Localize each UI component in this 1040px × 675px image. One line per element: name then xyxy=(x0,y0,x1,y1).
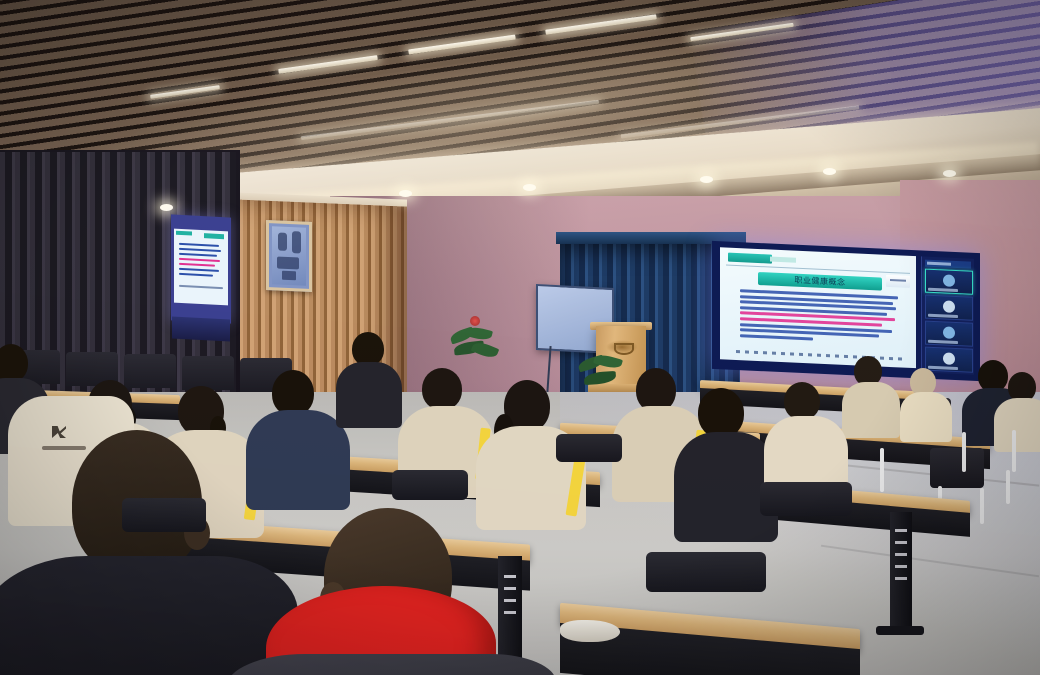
chair-leg xyxy=(962,432,966,472)
chair-back xyxy=(122,498,206,532)
slide-body-text xyxy=(740,289,898,347)
slide-title: 职业健康概念 xyxy=(758,272,882,291)
plant-leaf xyxy=(471,340,500,361)
recessed-downlight xyxy=(823,168,836,175)
bench-seat xyxy=(182,356,234,390)
vc-participant-name xyxy=(928,340,958,344)
chair-leg xyxy=(1006,470,1010,504)
side-slide-line xyxy=(179,248,221,252)
poster-figure xyxy=(278,233,287,251)
poster-object xyxy=(277,256,299,269)
side-slide-line-highlight xyxy=(179,263,215,267)
recessed-downlight xyxy=(399,190,412,197)
vc-participant-name xyxy=(928,288,958,292)
side-slide-tab xyxy=(176,231,192,236)
rear-bench-seating xyxy=(0,330,300,390)
chair-back xyxy=(392,470,468,500)
vc-participant-tile[interactable] xyxy=(925,347,973,373)
slide-accent-tab-secondary xyxy=(770,257,796,263)
chair-leg xyxy=(980,488,984,524)
side-slide-footer xyxy=(179,285,223,289)
plant-leaf xyxy=(465,325,493,342)
poster-artwork xyxy=(272,226,306,285)
chair-back xyxy=(646,552,766,592)
desk-leg xyxy=(498,556,522,666)
jacket-logo-text xyxy=(42,446,86,450)
slide-corner-logo xyxy=(886,275,910,288)
side-screen-slide xyxy=(174,229,228,306)
recessed-downlight xyxy=(943,170,956,177)
bench-seat xyxy=(124,354,176,388)
chair-leg xyxy=(880,448,884,492)
framed-safety-poster xyxy=(266,220,312,292)
plant-flower xyxy=(470,316,480,326)
main-projection-screen: 职业健康概念 xyxy=(712,241,980,381)
video-conference-participant-panel[interactable] xyxy=(921,256,974,374)
recessed-downlight xyxy=(700,176,713,183)
avatar xyxy=(943,352,955,365)
potted-plant xyxy=(448,316,506,368)
avatar xyxy=(943,300,955,313)
side-slide-line xyxy=(179,253,217,257)
poster-object xyxy=(282,271,296,281)
slide-accent-tab xyxy=(728,253,772,264)
plant-leaf xyxy=(584,371,617,385)
side-slide-line xyxy=(179,243,219,247)
chair-back xyxy=(556,434,622,462)
shoe xyxy=(560,620,620,642)
vc-participant-name xyxy=(928,366,958,370)
training-room-photo: 职业健康概念 xyxy=(0,0,1040,675)
vc-participant-name xyxy=(928,314,958,318)
chair xyxy=(930,448,984,488)
vc-participant-tile[interactable] xyxy=(925,295,973,321)
vc-participant-tile[interactable] xyxy=(925,269,973,295)
poster-figure xyxy=(292,231,301,253)
plant-leaf xyxy=(593,352,623,370)
avatar xyxy=(943,274,955,287)
side-slide-title xyxy=(204,233,224,239)
vc-panel-header xyxy=(925,260,971,269)
slide-text-line xyxy=(740,334,813,340)
avatar xyxy=(943,326,955,339)
desk-foot xyxy=(876,626,924,635)
side-wall-screen xyxy=(171,214,231,323)
side-slide-line xyxy=(179,273,213,277)
side-slide-line-highlight xyxy=(179,258,220,262)
vc-participant-tile[interactable] xyxy=(925,321,973,347)
chair-leg xyxy=(1012,430,1016,472)
slide-divider xyxy=(726,265,910,274)
desk-leg xyxy=(890,512,912,632)
chair-back xyxy=(760,482,852,516)
recessed-downlight xyxy=(523,184,536,191)
side-slide-line xyxy=(179,268,219,272)
presentation-slide: 职业健康概念 xyxy=(720,247,916,368)
recessed-downlight xyxy=(160,204,173,211)
